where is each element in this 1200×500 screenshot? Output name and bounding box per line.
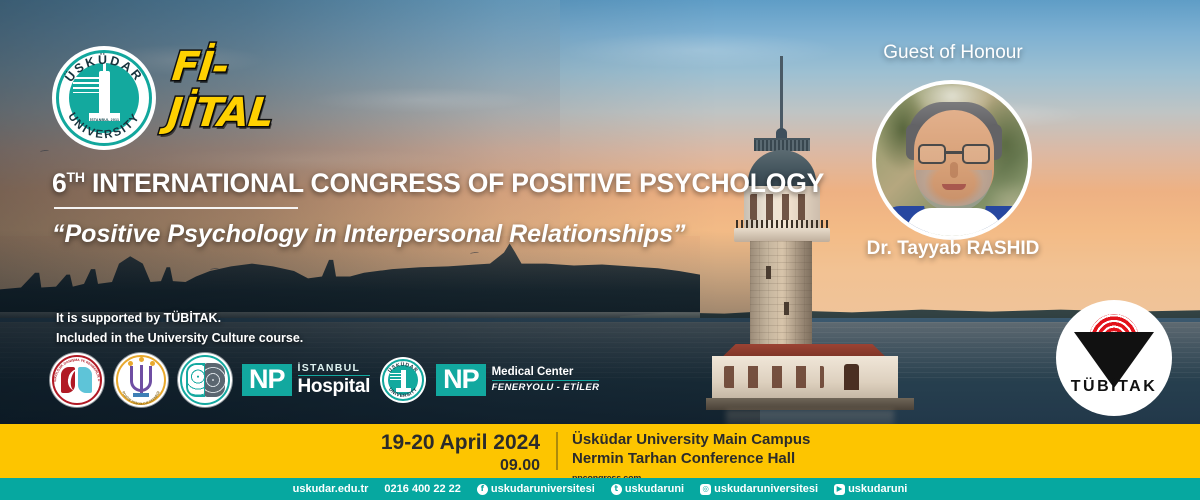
social-link-facebook[interactable]: f uskudaruniversitesi — [477, 483, 595, 495]
np-badge: NP — [242, 364, 292, 396]
guest-nose — [950, 162, 958, 178]
tower-window-slit — [766, 266, 771, 279]
guest-of-honour-photo — [872, 80, 1032, 240]
instagram-icon: ◎ — [700, 484, 711, 495]
guest-mouth — [942, 184, 966, 190]
svg-text:POZİTİF PSİKOLOJİ DERNEĞİ: POZİTİF PSİKOLOJİ DERNEĞİ — [121, 391, 161, 406]
congress-ordinal-suffix: TH — [67, 169, 85, 185]
guest-of-honour-name: Dr. Tayyab RASHID — [838, 238, 1068, 260]
logo-established-text: İSTANBUL 2011 — [90, 118, 119, 122]
logo-text-top: ÜSKÜDAR — [386, 361, 419, 374]
sponsor-logo-positive-psychology-association: POZİTİF PSİKOLOJİ DERNEĞİ — [114, 353, 168, 407]
uskudar-university-logo: ÜSKÜDAR UNIVERSITY İSTANBUL 2011 — [52, 46, 156, 150]
np-top-text: Medical Center — [492, 367, 600, 381]
youtube-icon: ▶ — [834, 484, 845, 495]
tower-mast — [780, 56, 783, 134]
tower-window-slit — [784, 302, 789, 315]
youtube-handle: uskudaruni — [848, 483, 907, 495]
tower-balcony — [734, 228, 830, 242]
brain-right-hemisphere-icon — [205, 363, 225, 397]
sponsor-name-text: POZİTİF PSİKOLOJİ DERNEĞİ — [121, 391, 161, 406]
support-line-2: Included in the University Culture cours… — [56, 328, 303, 348]
sponsor-arc-text: TÜRK PSİKOLOJİK DANIŞMA VE REHBERLİK DER… — [50, 353, 104, 407]
twitter-handle: uskudaruni — [625, 483, 684, 495]
svg-text:TÜRK PSİKOLOJİK DANIŞMA VE REH: TÜRK PSİKOLOJİK DANIŞMA VE REHBERLİK DER… — [50, 353, 101, 382]
congress-title-text: INTERNATIONAL CONGRESS OF POSITIVE PSYCH… — [92, 168, 824, 198]
sponsor-name-text: TÜRK PSİKOLOJİK DANIŞMA VE REHBERLİK DER… — [50, 353, 101, 382]
sponsor-logo-np-medical-center: NP Medical Center FENERYOLU - ETİLER — [436, 364, 599, 396]
congress-ordinal: 6 — [52, 168, 67, 198]
np-bottom-text: FENERYOLU - ETİLER — [492, 383, 600, 393]
np-wordmark: Medical Center FENERYOLU - ETİLER — [492, 367, 600, 392]
event-details-divider — [556, 432, 558, 470]
twitter-icon: t — [611, 484, 622, 495]
tower-finial — [776, 128, 787, 138]
event-details-bar: 19-20 April 2024 09.00 Üsküdar Universit… — [0, 424, 1200, 478]
logo-text-bottom: UNIVERSITY — [65, 111, 142, 141]
sponsor-logo-turkish-psychological-counseling-association: TÜRK PSİKOLOJİK DANIŞMA VE REHBERLİK DER… — [50, 353, 104, 407]
instagram-handle: uskudaruniversitesi — [714, 483, 818, 495]
np-bottom-text: Hospital — [298, 377, 371, 396]
guest-of-honour-label: Guest of Honour — [838, 42, 1068, 64]
logo-text-bottom: UNIVERSITY — [387, 386, 419, 399]
guest-glasses-bridge — [946, 151, 962, 154]
svg-text:UNIVERSITY: UNIVERSITY — [65, 111, 142, 141]
tower-annex-windows — [724, 366, 824, 388]
tower-pier — [706, 398, 914, 410]
svg-text:ÜSKÜDAR: ÜSKÜDAR — [386, 361, 419, 374]
congress-subtitle: “Positive Psychology in Interpersonal Re… — [52, 220, 685, 249]
np-wordmark: İSTANBUL Hospital — [298, 363, 371, 396]
venue-line-1: Üsküdar University Main Campus — [572, 430, 810, 449]
social-link-youtube[interactable]: ▶ uskudaruni — [834, 483, 907, 495]
page-title: 6TH INTERNATIONAL CONGRESS OF POSITIVE P… — [52, 168, 824, 199]
fijital-logo: Fİ-JİTAL — [167, 62, 333, 118]
support-note: It is supported by TÜBİTAK. Included in … — [56, 308, 303, 348]
venue-line-2: Nermin Tarhan Conference Hall — [572, 449, 810, 468]
guest-shirt — [906, 208, 1002, 240]
sponsor-logo-brain-institute — [178, 353, 232, 407]
logo-arc-text: ÜSKÜDAR UNIVERSITY — [52, 46, 156, 150]
guest-glasses-lens — [918, 144, 946, 164]
logo-text-top: ÜSKÜDAR — [61, 52, 145, 85]
title-divider — [54, 207, 298, 209]
social-link-twitter[interactable]: t uskudaruni — [611, 483, 684, 495]
tubitak-logo: TÜBİTAK — [1056, 300, 1172, 416]
guest-glasses-lens — [962, 144, 990, 164]
contact-bar: uskudar.edu.tr 0216 400 22 22 f uskudaru… — [0, 478, 1200, 500]
brain-left-hemisphere-icon — [186, 363, 206, 397]
tower-stone-texture — [750, 241, 812, 349]
university-phone: 0216 400 22 22 — [384, 483, 460, 495]
sponsor-arc-text: ÜSKÜDAR UNIVERSITY — [380, 357, 426, 403]
university-website-link[interactable]: uskudar.edu.tr — [293, 483, 369, 495]
svg-text:ÜSKÜDAR: ÜSKÜDAR — [61, 52, 145, 85]
facebook-handle: uskudaruniversitesi — [491, 483, 595, 495]
np-badge: NP — [436, 364, 486, 396]
sponsor-arc-text: POZİTİF PSİKOLOJİ DERNEĞİ — [114, 353, 168, 407]
support-line-1: It is supported by TÜBİTAK. — [56, 308, 303, 328]
event-date-block: 19-20 April 2024 09.00 — [330, 431, 540, 477]
np-top-text: İSTANBUL — [298, 363, 371, 376]
sponsor-logo-np-istanbul-hospital: NP İSTANBUL Hospital — [242, 363, 370, 396]
event-time: 09.00 — [330, 454, 540, 477]
sponsor-logo-uskudar-university-small: ÜSKÜDAR UNIVERSITY — [380, 357, 426, 403]
congress-banner: ÜSKÜDAR UNIVERSITY İSTANBUL 2011 Fİ-JİTA… — [0, 0, 1200, 500]
social-link-instagram[interactable]: ◎ uskudaruniversitesi — [700, 483, 818, 495]
tubitak-wordmark: TÜBİTAK — [1056, 378, 1172, 396]
event-date: 19-20 April 2024 — [381, 431, 540, 454]
svg-text:UNIVERSITY: UNIVERSITY — [387, 386, 419, 399]
tower-door — [844, 364, 859, 390]
sponsor-logo-row: TÜRK PSİKOLOJİK DANIŞMA VE REHBERLİK DER… — [50, 352, 599, 408]
facebook-icon: f — [477, 484, 488, 495]
